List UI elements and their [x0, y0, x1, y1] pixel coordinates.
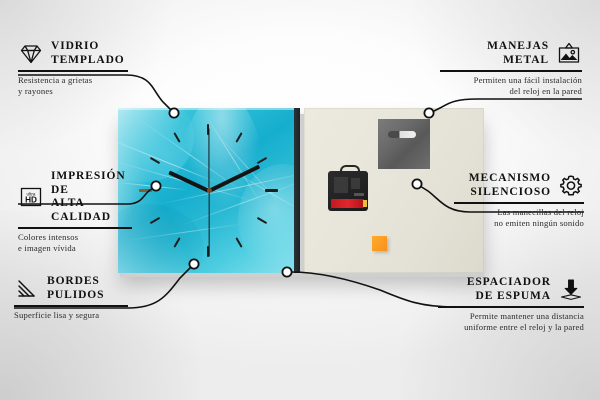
product-image	[118, 108, 484, 273]
callout-rule	[18, 70, 128, 72]
callout-header: ultra HD IMPRESIÓN DEALTA CALIDAD	[18, 170, 132, 224]
clock-second-hand-upper	[208, 129, 209, 191]
callout-vidrio-templado[interactable]: VIDRIOTEMPLADO Resistencia a grietasy ra…	[18, 40, 128, 97]
clock-front-face	[118, 108, 300, 273]
callout-subtitle: Permite mantener una distanciauniforme e…	[438, 311, 584, 333]
callout-rule	[454, 202, 584, 204]
callout-bordes-pulidos[interactable]: BORDESPULIDOS Superficie lisa y segura	[14, 275, 128, 321]
callout-manejas-metal[interactable]: MANEJASMETAL Permiten una fácil instalac…	[440, 40, 582, 97]
callout-title: MECANISMOSILENCIOSO	[469, 172, 551, 199]
clock-second-hand	[208, 191, 209, 257]
clock-hour-hand	[168, 171, 210, 193]
callout-impresion-alta-calidad[interactable]: ultra HD IMPRESIÓN DEALTA CALIDAD Colore…	[18, 170, 132, 254]
infographic-canvas: VIDRIOTEMPLADO Resistencia a grietasy ra…	[0, 0, 600, 400]
callout-subtitle: Permiten una fácil instalacióndel reloj …	[440, 75, 582, 97]
callout-title: MANEJASMETAL	[487, 40, 549, 67]
clock-right-edge	[294, 108, 300, 273]
gear-icon	[558, 173, 584, 199]
movement-hanging-loop	[340, 165, 360, 177]
picture-frame-hanging-icon	[556, 41, 582, 67]
callout-rule	[438, 306, 584, 308]
hanger-plate	[378, 119, 430, 169]
hanger-slot	[388, 131, 416, 138]
callout-title: VIDRIOTEMPLADO	[51, 40, 125, 67]
callout-header: BORDESPULIDOS	[14, 275, 128, 302]
callout-subtitle: Resistencia a grietasy rayones	[18, 75, 128, 97]
arrow-down-pad-icon	[558, 277, 584, 303]
clock-movement	[328, 171, 368, 211]
callout-header: MECANISMOSILENCIOSO	[454, 172, 584, 199]
callout-espaciador-espuma[interactable]: ESPACIADORDE ESPUMA Permite mantener una…	[438, 276, 584, 333]
callout-subtitle: Las manecillas del relojno emiten ningún…	[454, 207, 584, 229]
callout-rule	[14, 305, 128, 307]
svg-text:HD: HD	[25, 196, 37, 205]
foam-spacer	[372, 236, 387, 251]
callout-subtitle: Superficie lisa y segura	[14, 310, 128, 321]
callout-header: VIDRIOTEMPLADO	[18, 40, 128, 67]
callout-header: MANEJASMETAL	[440, 40, 582, 67]
callout-title: BORDESPULIDOS	[47, 275, 104, 302]
callout-title: ESPACIADORDE ESPUMA	[467, 276, 551, 303]
clock-battery	[331, 199, 364, 208]
callout-rule	[440, 70, 582, 72]
battery-terminal	[363, 200, 367, 207]
clock-top-highlight	[118, 108, 300, 110]
callout-rule	[18, 227, 132, 229]
callout-header: ESPACIADORDE ESPUMA	[438, 276, 584, 303]
callout-mecanismo-silencioso[interactable]: MECANISMOSILENCIOSO Las manecillas del r…	[454, 172, 584, 229]
clock-center-pin	[207, 188, 212, 193]
callout-subtitle: Colores intensose imagen vívida	[18, 232, 132, 254]
callout-title: IMPRESIÓN DEALTA CALIDAD	[51, 170, 132, 224]
ultra-hd-icon: ultra HD	[18, 184, 44, 210]
diamond-icon	[18, 41, 44, 67]
polished-edges-icon	[14, 276, 40, 302]
